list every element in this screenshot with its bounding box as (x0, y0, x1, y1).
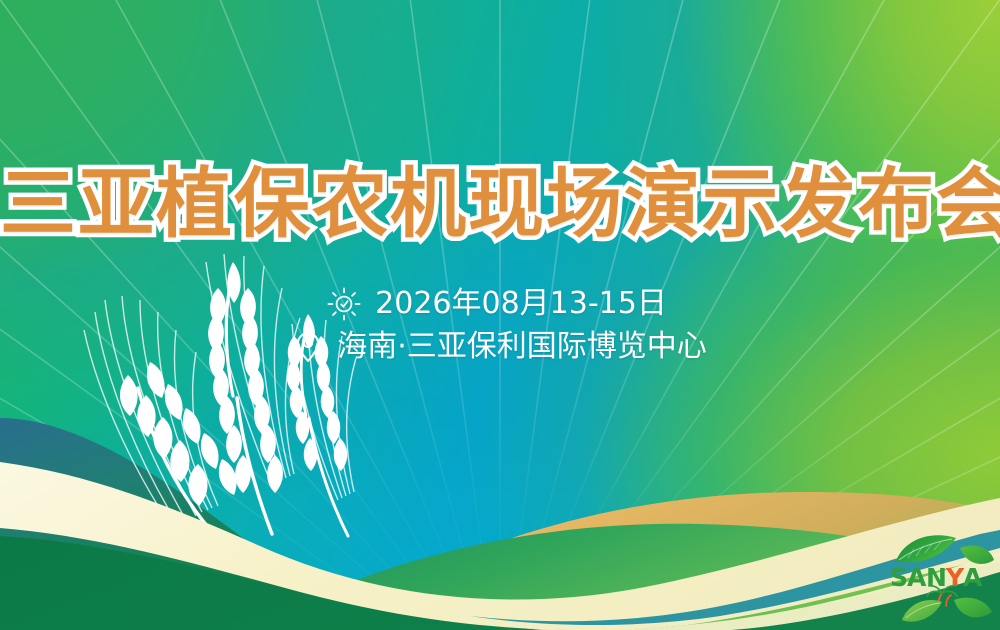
event-banner: 三亚植保农机现场演示发布会 (0, 0, 1000, 630)
svg-text:A: A (963, 563, 983, 592)
sanya-logo: S A N Y A (882, 528, 994, 624)
logo-leaf-top (896, 535, 956, 562)
logo-leaf-right (960, 546, 994, 564)
svg-text:S: S (890, 563, 909, 592)
wave-bands-decoration (0, 0, 1000, 630)
svg-text:A: A (907, 563, 927, 592)
